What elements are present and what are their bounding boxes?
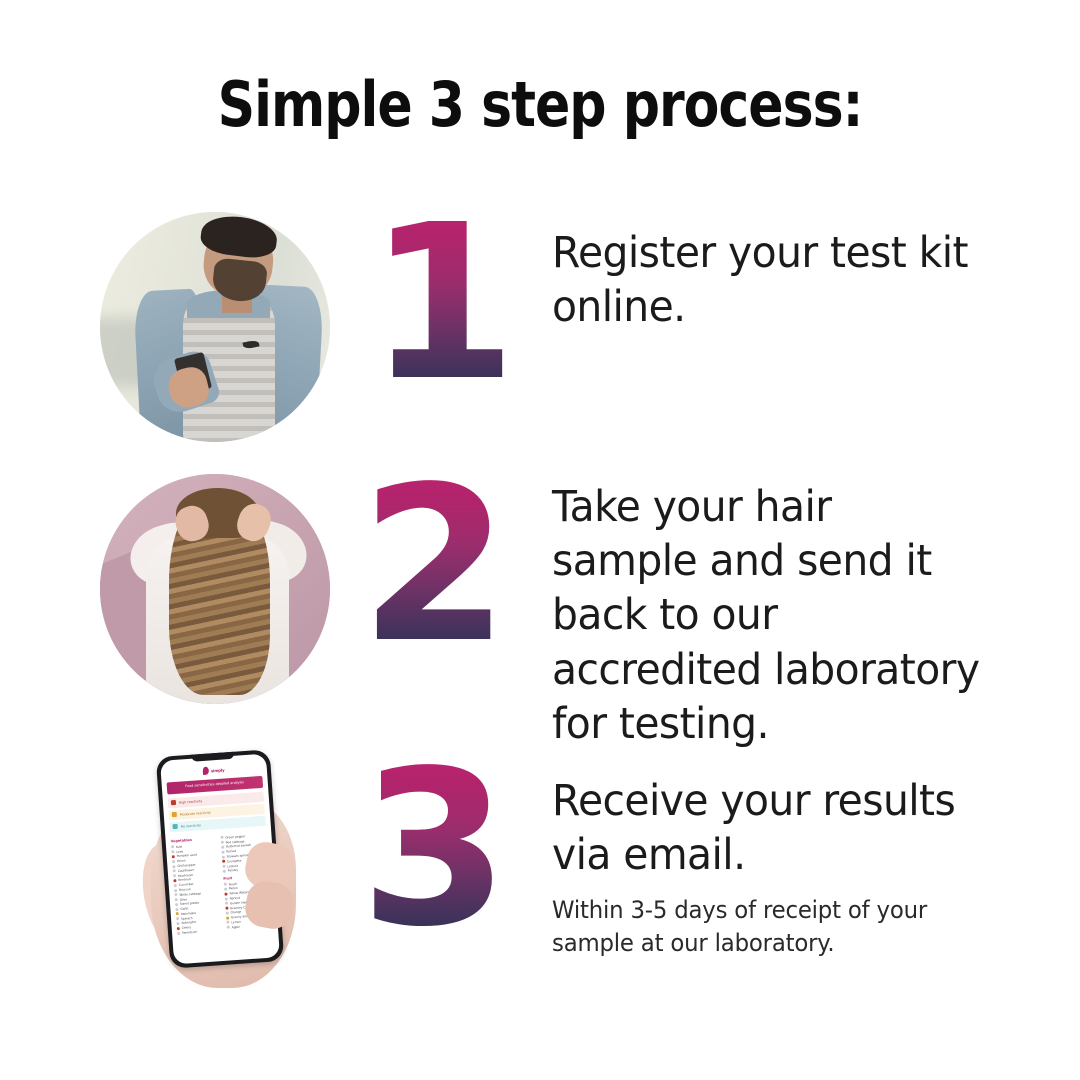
- step-2-media: [0, 458, 360, 748]
- infographic-page: Simple 3 step process:: [0, 0, 1080, 1080]
- brand-wordmark: simply: [211, 767, 225, 773]
- step-2-description: Take your hair sample and send it back t…: [552, 480, 987, 751]
- step-number-2: 2: [360, 472, 503, 660]
- photo-man-with-phone: [100, 212, 330, 442]
- step-item-2: 2 Take your hair sample and send it back…: [0, 458, 1080, 748]
- step-3-media: simply Food sensitivities detailed analy…: [0, 748, 360, 1010]
- step-2-text-wrap: Take your hair sample and send it back t…: [552, 458, 1080, 751]
- legend-swatch-icon: [171, 800, 176, 805]
- steps-list: 1 Register your test kit online.: [0, 196, 1080, 1010]
- step-number-1: 1: [368, 210, 511, 398]
- step-3-description: Receive your results via email.: [552, 774, 987, 882]
- step-number-3: 3: [360, 756, 503, 944]
- legend-swatch-icon: [172, 812, 177, 817]
- legend-swatch-icon: [173, 824, 178, 829]
- screen-banner: Food sensitivities detailed analysis: [167, 776, 263, 794]
- page-title: Simple 3 step process:: [86, 68, 993, 141]
- screen-brand-logo: simply: [203, 765, 225, 774]
- photo-woman-long-hair: [100, 474, 330, 704]
- legend-label: High reactivity: [179, 799, 203, 805]
- step-3-text-wrap: Receive your results via email. Within 3…: [552, 748, 1080, 959]
- step-item-3: simply Food sensitivities detailed analy…: [0, 748, 1080, 1010]
- step-3-note: Within 3-5 days of receipt of your sampl…: [552, 894, 987, 958]
- brand-mark-icon: [203, 766, 210, 774]
- legend-label: No reactivity: [181, 823, 202, 828]
- photo-hand-holding-phone: simply Food sensitivities detailed analy…: [124, 740, 320, 998]
- screen-legend: High reactivity Moderate reactivity No r…: [168, 791, 266, 834]
- step-1-media: [0, 196, 360, 458]
- legend-label: Moderate reactivity: [180, 810, 211, 816]
- step-1-description: Register your test kit online.: [552, 226, 987, 334]
- step-item-1: 1 Register your test kit online.: [0, 196, 1080, 458]
- result-column-left: Vegetables Kale Leek Pumpkin seed Onion …: [171, 836, 225, 964]
- step-1-text-wrap: Register your test kit online.: [552, 196, 1080, 334]
